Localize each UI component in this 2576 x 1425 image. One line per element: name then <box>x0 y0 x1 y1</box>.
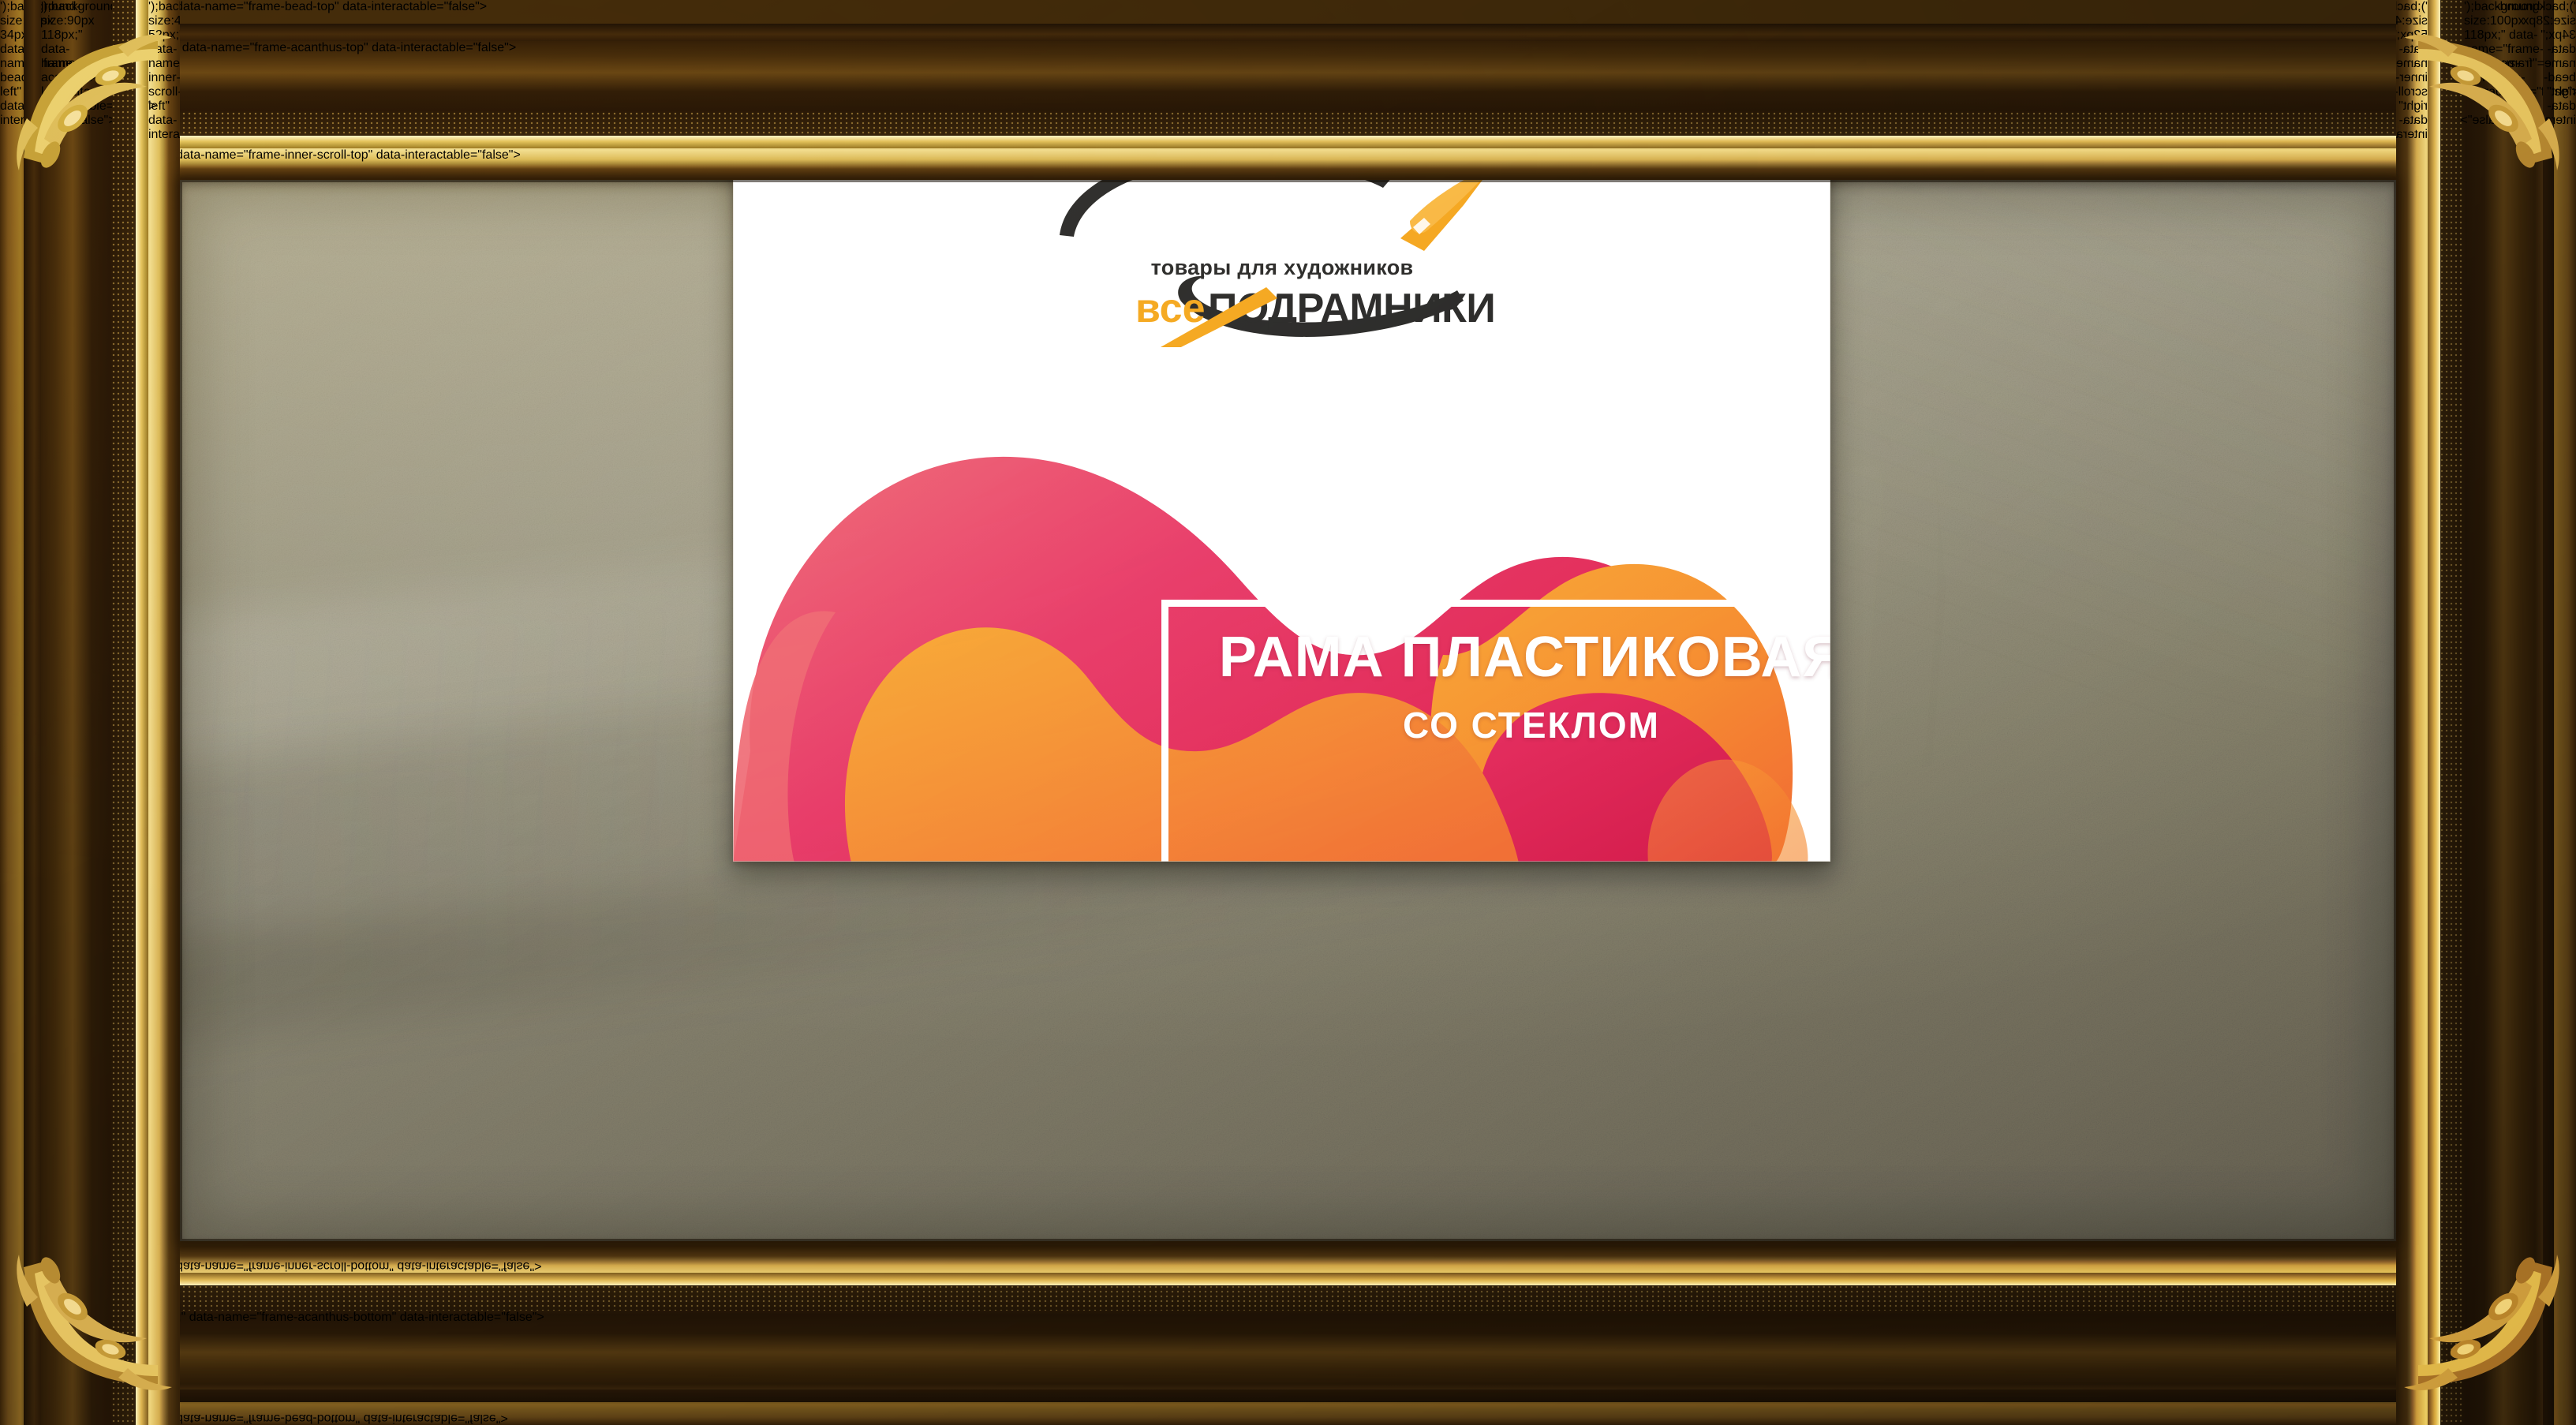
frame-stipple-base-right <box>2440 0 2464 1425</box>
frame-stipple-base-left <box>112 0 136 1425</box>
frame-groove-right <box>2543 0 2554 1425</box>
frame-corner-ornament-bottom-right <box>2395 1244 2576 1425</box>
frame-corner-ornament-top-left <box>0 0 181 181</box>
frame-stipple-right <box>2440 0 2464 1425</box>
frame-bead-row-outer-top <box>0 0 2576 24</box>
frame-stipple-base-bottom <box>0 1285 2576 1311</box>
frame-gold-ridge-bottom <box>0 1273 2576 1285</box>
frame-side-left: ');background-size:30px 34px;" data-name… <box>0 0 180 1425</box>
product-photo-canvas: товары для художников все ПОДРАМНИКИ <box>0 0 2576 1425</box>
product-label-card: товары для художников все ПОДРАМНИКИ <box>733 80 1830 862</box>
frame-side-bottom: ');background-size:52px 40px;" data-name… <box>0 1241 2576 1425</box>
frame-gold-ridge-right <box>2428 0 2440 1425</box>
frame-groove-bottom <box>0 1389 2576 1402</box>
frame-gold-ridge-left <box>136 0 148 1425</box>
frame-corner-ornament-top-right <box>2395 0 2576 181</box>
card-edge-highlight <box>733 80 1830 862</box>
frame-groove-left <box>24 0 41 1425</box>
frame-groove-top <box>0 24 2576 41</box>
frame-stipple-left <box>112 0 136 1425</box>
frame-corner-ornament-bottom-left <box>0 1244 181 1425</box>
frame-stipple-bottom <box>0 1285 2576 1311</box>
frame-side-right: ');background-size:40px 52px;" data-name… <box>2396 0 2576 1425</box>
